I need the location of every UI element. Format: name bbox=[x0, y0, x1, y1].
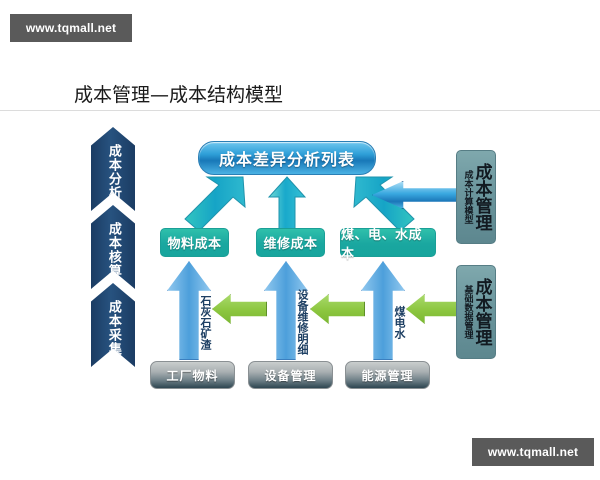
detail-arrow-label: 煤电水 bbox=[361, 285, 405, 359]
source-box-equipment-management: 设备管理 bbox=[248, 361, 333, 389]
stage-chevron-cost-collection: 成本采集 bbox=[91, 283, 135, 367]
title-divider bbox=[0, 110, 600, 111]
flow-arrow-cost-model bbox=[372, 181, 462, 207]
source-box-label: 设备管理 bbox=[264, 367, 316, 384]
data-flow-arrow-shape bbox=[310, 294, 365, 324]
source-box-factory-material: 工厂物料 bbox=[150, 361, 235, 389]
page-title: 成本管理—成本结构模型 bbox=[74, 80, 283, 107]
stage-chevron-label: 成本分析 bbox=[106, 144, 120, 200]
cost-box-material: 物料成本 bbox=[160, 228, 229, 257]
data-flow-arrow-1 bbox=[212, 294, 265, 322]
data-flow-arrow-3 bbox=[406, 294, 459, 322]
cost-variance-analysis-banner: 成本差异分析列表 bbox=[198, 141, 376, 175]
banner-label: 成本差异分析列表 bbox=[219, 146, 355, 170]
detail-arrow-limestone-slag: 石灰石矿渣 bbox=[167, 261, 211, 360]
stage-chevron-label: 成本核算 bbox=[106, 222, 120, 278]
source-box-label: 能源管理 bbox=[361, 367, 413, 384]
watermark-top-text: www.tqmall.net bbox=[26, 21, 116, 35]
watermark-bottom-text: www.tqmall.net bbox=[488, 445, 578, 459]
stage-chevron-label: 成本采集 bbox=[106, 300, 120, 356]
source-box-label: 工厂物料 bbox=[166, 367, 218, 384]
converging-arrow-left bbox=[183, 175, 249, 231]
flow-arrow-shape bbox=[372, 181, 464, 209]
stage-chevron-cost-analysis: 成本分析 bbox=[91, 127, 135, 211]
side-panel-master-data-management: 成本管理 基础数据管理 bbox=[456, 265, 496, 359]
cost-box-maintenance: 维修成本 bbox=[256, 228, 325, 257]
cost-box-label: 煤、电、水成本 bbox=[341, 224, 435, 262]
side-panel-cost-calculation-model: 成本管理 成本计算模型 bbox=[456, 150, 496, 244]
source-box-energy-management: 能源管理 bbox=[345, 361, 430, 389]
side-panel-title: 成本管理 bbox=[473, 163, 490, 231]
side-panel-title: 成本管理 bbox=[473, 278, 490, 346]
data-flow-arrow-shape bbox=[406, 294, 461, 324]
watermark-bottom: www.tqmall.net bbox=[472, 438, 594, 466]
side-panel-subtitle: 成本计算模型 bbox=[463, 170, 472, 224]
cost-box-label: 维修成本 bbox=[263, 233, 317, 252]
detail-arrow-label: 设备维修明细 bbox=[264, 285, 308, 359]
detail-arrow-equipment-maintenance: 设备维修明细 bbox=[264, 261, 308, 360]
watermark-top: www.tqmall.net bbox=[10, 14, 132, 42]
side-panel-subtitle: 基础数据管理 bbox=[463, 285, 472, 339]
cost-box-utilities: 煤、电、水成本 bbox=[340, 228, 436, 257]
stage-chevron-cost-accounting: 成本核算 bbox=[91, 205, 135, 289]
converging-arrow-center bbox=[267, 175, 307, 231]
cost-box-label: 物料成本 bbox=[167, 233, 221, 252]
detail-arrow-label: 石灰石矿渣 bbox=[167, 285, 211, 359]
data-flow-arrow-2 bbox=[310, 294, 363, 322]
data-flow-arrow-shape bbox=[212, 294, 267, 324]
detail-arrow-coal-electricity-water: 煤电水 bbox=[361, 261, 405, 360]
